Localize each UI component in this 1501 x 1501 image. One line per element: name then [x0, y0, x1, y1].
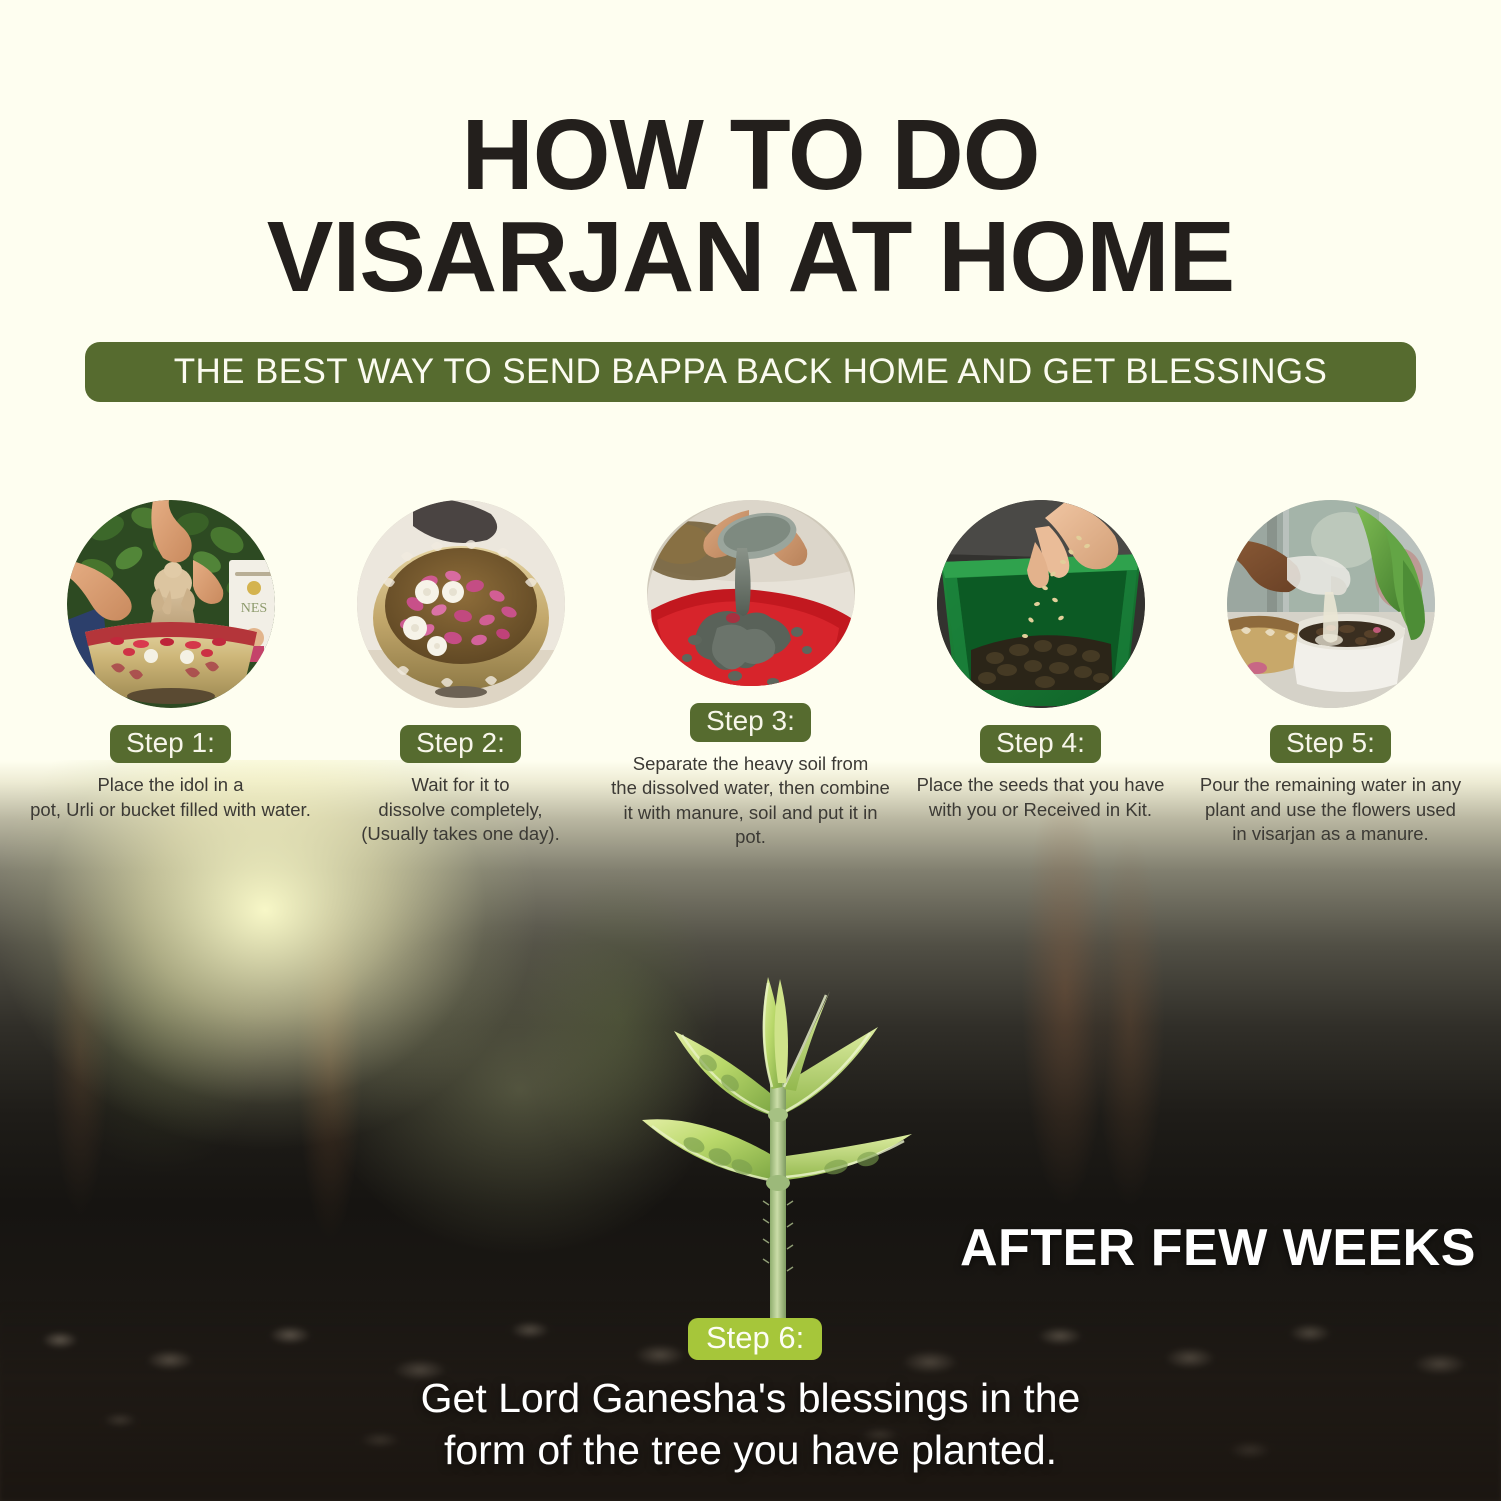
step-card-4: Step 4: Place the seeds that you have wi…: [896, 500, 1186, 850]
step-desc-line: Place the idol in a: [28, 773, 313, 798]
step-badge-6: Step 6:: [688, 1318, 822, 1360]
watering-plant-pot-photo: [1227, 500, 1435, 708]
step-card-2: Step 2: Wait for it to dissolve complete…: [316, 500, 606, 850]
step-desc-line: Separate the heavy soil from: [608, 752, 893, 777]
step-description-4: Place the seeds that you have with you o…: [898, 773, 1183, 822]
step-badge-2: Step 2:: [400, 725, 521, 763]
step-desc-line: Place the seeds that you have: [898, 773, 1183, 798]
step-desc-line: pot, Urli or bucket filled with water.: [28, 798, 313, 823]
subtitle-text: THE BEST WAY TO SEND BAPPA BACK HOME AND…: [174, 352, 1328, 392]
step-card-3: Step 3: Separate the heavy soil from the…: [606, 500, 896, 850]
step-badge-5: Step 5:: [1270, 725, 1391, 763]
step-badge-1: Step 1:: [110, 725, 231, 763]
step-description-2: Wait for it to dissolve completely, (Usu…: [318, 773, 603, 847]
step-description-1: Place the idol in a pot, Urli or bucket …: [28, 773, 313, 822]
subtitle-banner: THE BEST WAY TO SEND BAPPA BACK HOME AND…: [85, 342, 1416, 402]
steps-row: NES: [0, 500, 1501, 850]
step-card-5: Step 5: Pour the remaining water in any …: [1186, 500, 1476, 850]
svg-text:NES: NES: [240, 601, 266, 616]
title-line-2: VISARJAN AT HOME: [0, 206, 1501, 308]
step-description-3: Separate the heavy soil from the dissolv…: [608, 752, 893, 850]
step-badge-3: Step 3:: [690, 703, 811, 741]
dissolved-idol-flowers-photo: [357, 500, 565, 708]
step-desc-line: in visarjan as a manure.: [1188, 822, 1473, 847]
final-message-line: form of the tree you have planted.: [0, 1424, 1501, 1476]
sowing-seeds-in-green-tray-photo: [937, 500, 1145, 708]
final-message: Get Lord Ganesha's blessings in the form…: [0, 1372, 1501, 1477]
step-desc-line: the dissolved water, then combine: [608, 776, 893, 801]
young-sapling-photo: [590, 955, 970, 1355]
page-title: HOW TO DO VISARJAN AT HOME: [0, 104, 1501, 308]
step-desc-line: dissolve completely,: [318, 798, 603, 823]
step-desc-line: (Usually takes one day).: [318, 822, 603, 847]
step-desc-line: with you or Received in Kit.: [898, 798, 1183, 823]
pouring-clay-on-red-cloth-photo: [647, 500, 855, 686]
infographic-poster: HOW TO DO VISARJAN AT HOME THE BEST WAY …: [0, 0, 1501, 1501]
step-desc-line: it with manure, soil and put it in pot.: [608, 801, 893, 850]
step-desc-line: Wait for it to: [318, 773, 603, 798]
step-desc-line: Pour the remaining water in any: [1188, 773, 1473, 798]
after-few-weeks-label: AFTER FEW WEEKS: [960, 1218, 1476, 1278]
step-card-1: NES: [26, 500, 316, 850]
step-description-5: Pour the remaining water in any plant an…: [1188, 773, 1473, 847]
step-badge-4: Step 4:: [980, 725, 1101, 763]
idol-in-urli-photo: NES: [67, 500, 275, 708]
final-message-line: Get Lord Ganesha's blessings in the: [0, 1372, 1501, 1424]
title-line-1: HOW TO DO: [461, 99, 1039, 211]
step-desc-line: plant and use the flowers used: [1188, 798, 1473, 823]
